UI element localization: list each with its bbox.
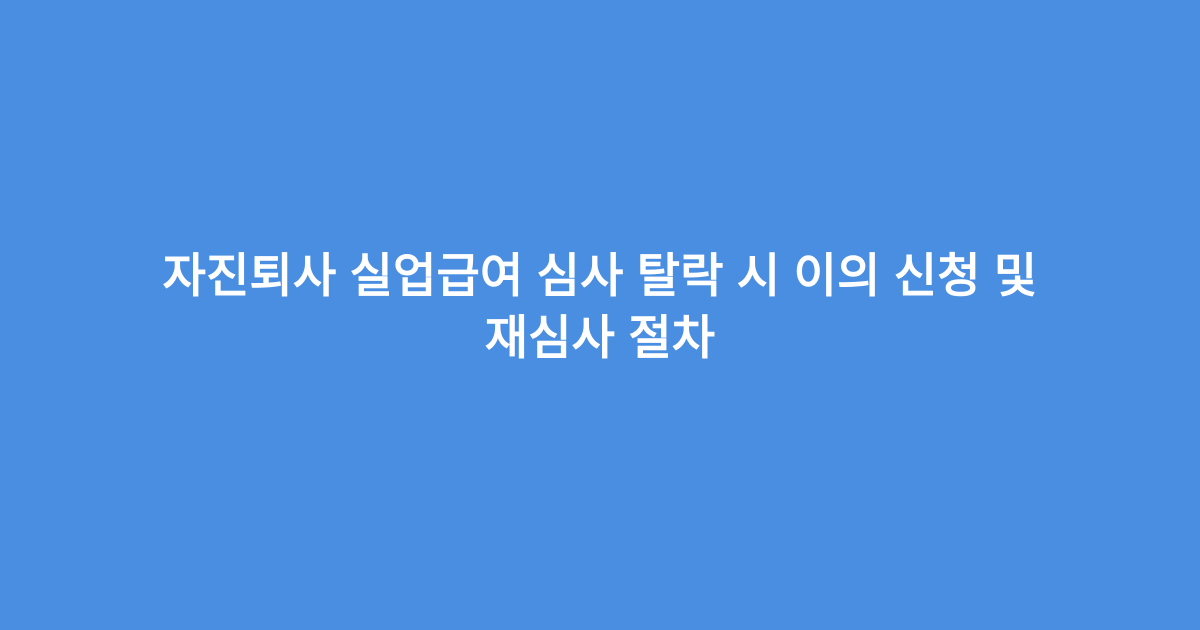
card-title: 자진퇴사 실업급여 심사 탈락 시 이의 신청 및 재심사 절차	[100, 245, 1100, 369]
share-card: 자진퇴사 실업급여 심사 탈락 시 이의 신청 및 재심사 절차	[0, 0, 1200, 630]
